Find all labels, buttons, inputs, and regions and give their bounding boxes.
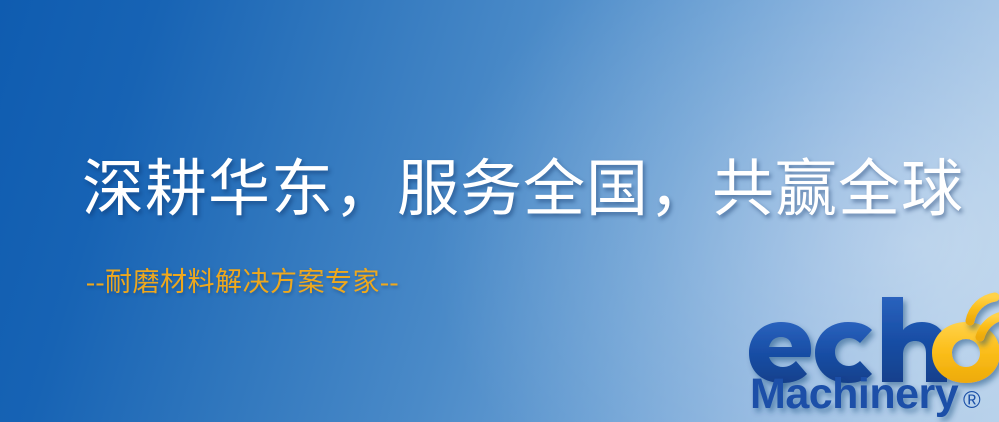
logo-tagline-text: Machinery: [750, 370, 959, 418]
logo-tagline-machinery: Machinery ®: [750, 370, 999, 420]
hero-banner: 深耕华东，服务全国，共赢全球 --耐磨材料解决方案专家--: [0, 0, 999, 422]
banner-subtitle: --耐磨材料解决方案专家--: [86, 264, 399, 300]
logo-registered-mark: ®: [963, 387, 981, 414]
banner-headline: 深耕华东，服务全国，共赢全球: [82, 152, 964, 228]
echo-machinery-logo: Machinery ®: [748, 296, 999, 422]
